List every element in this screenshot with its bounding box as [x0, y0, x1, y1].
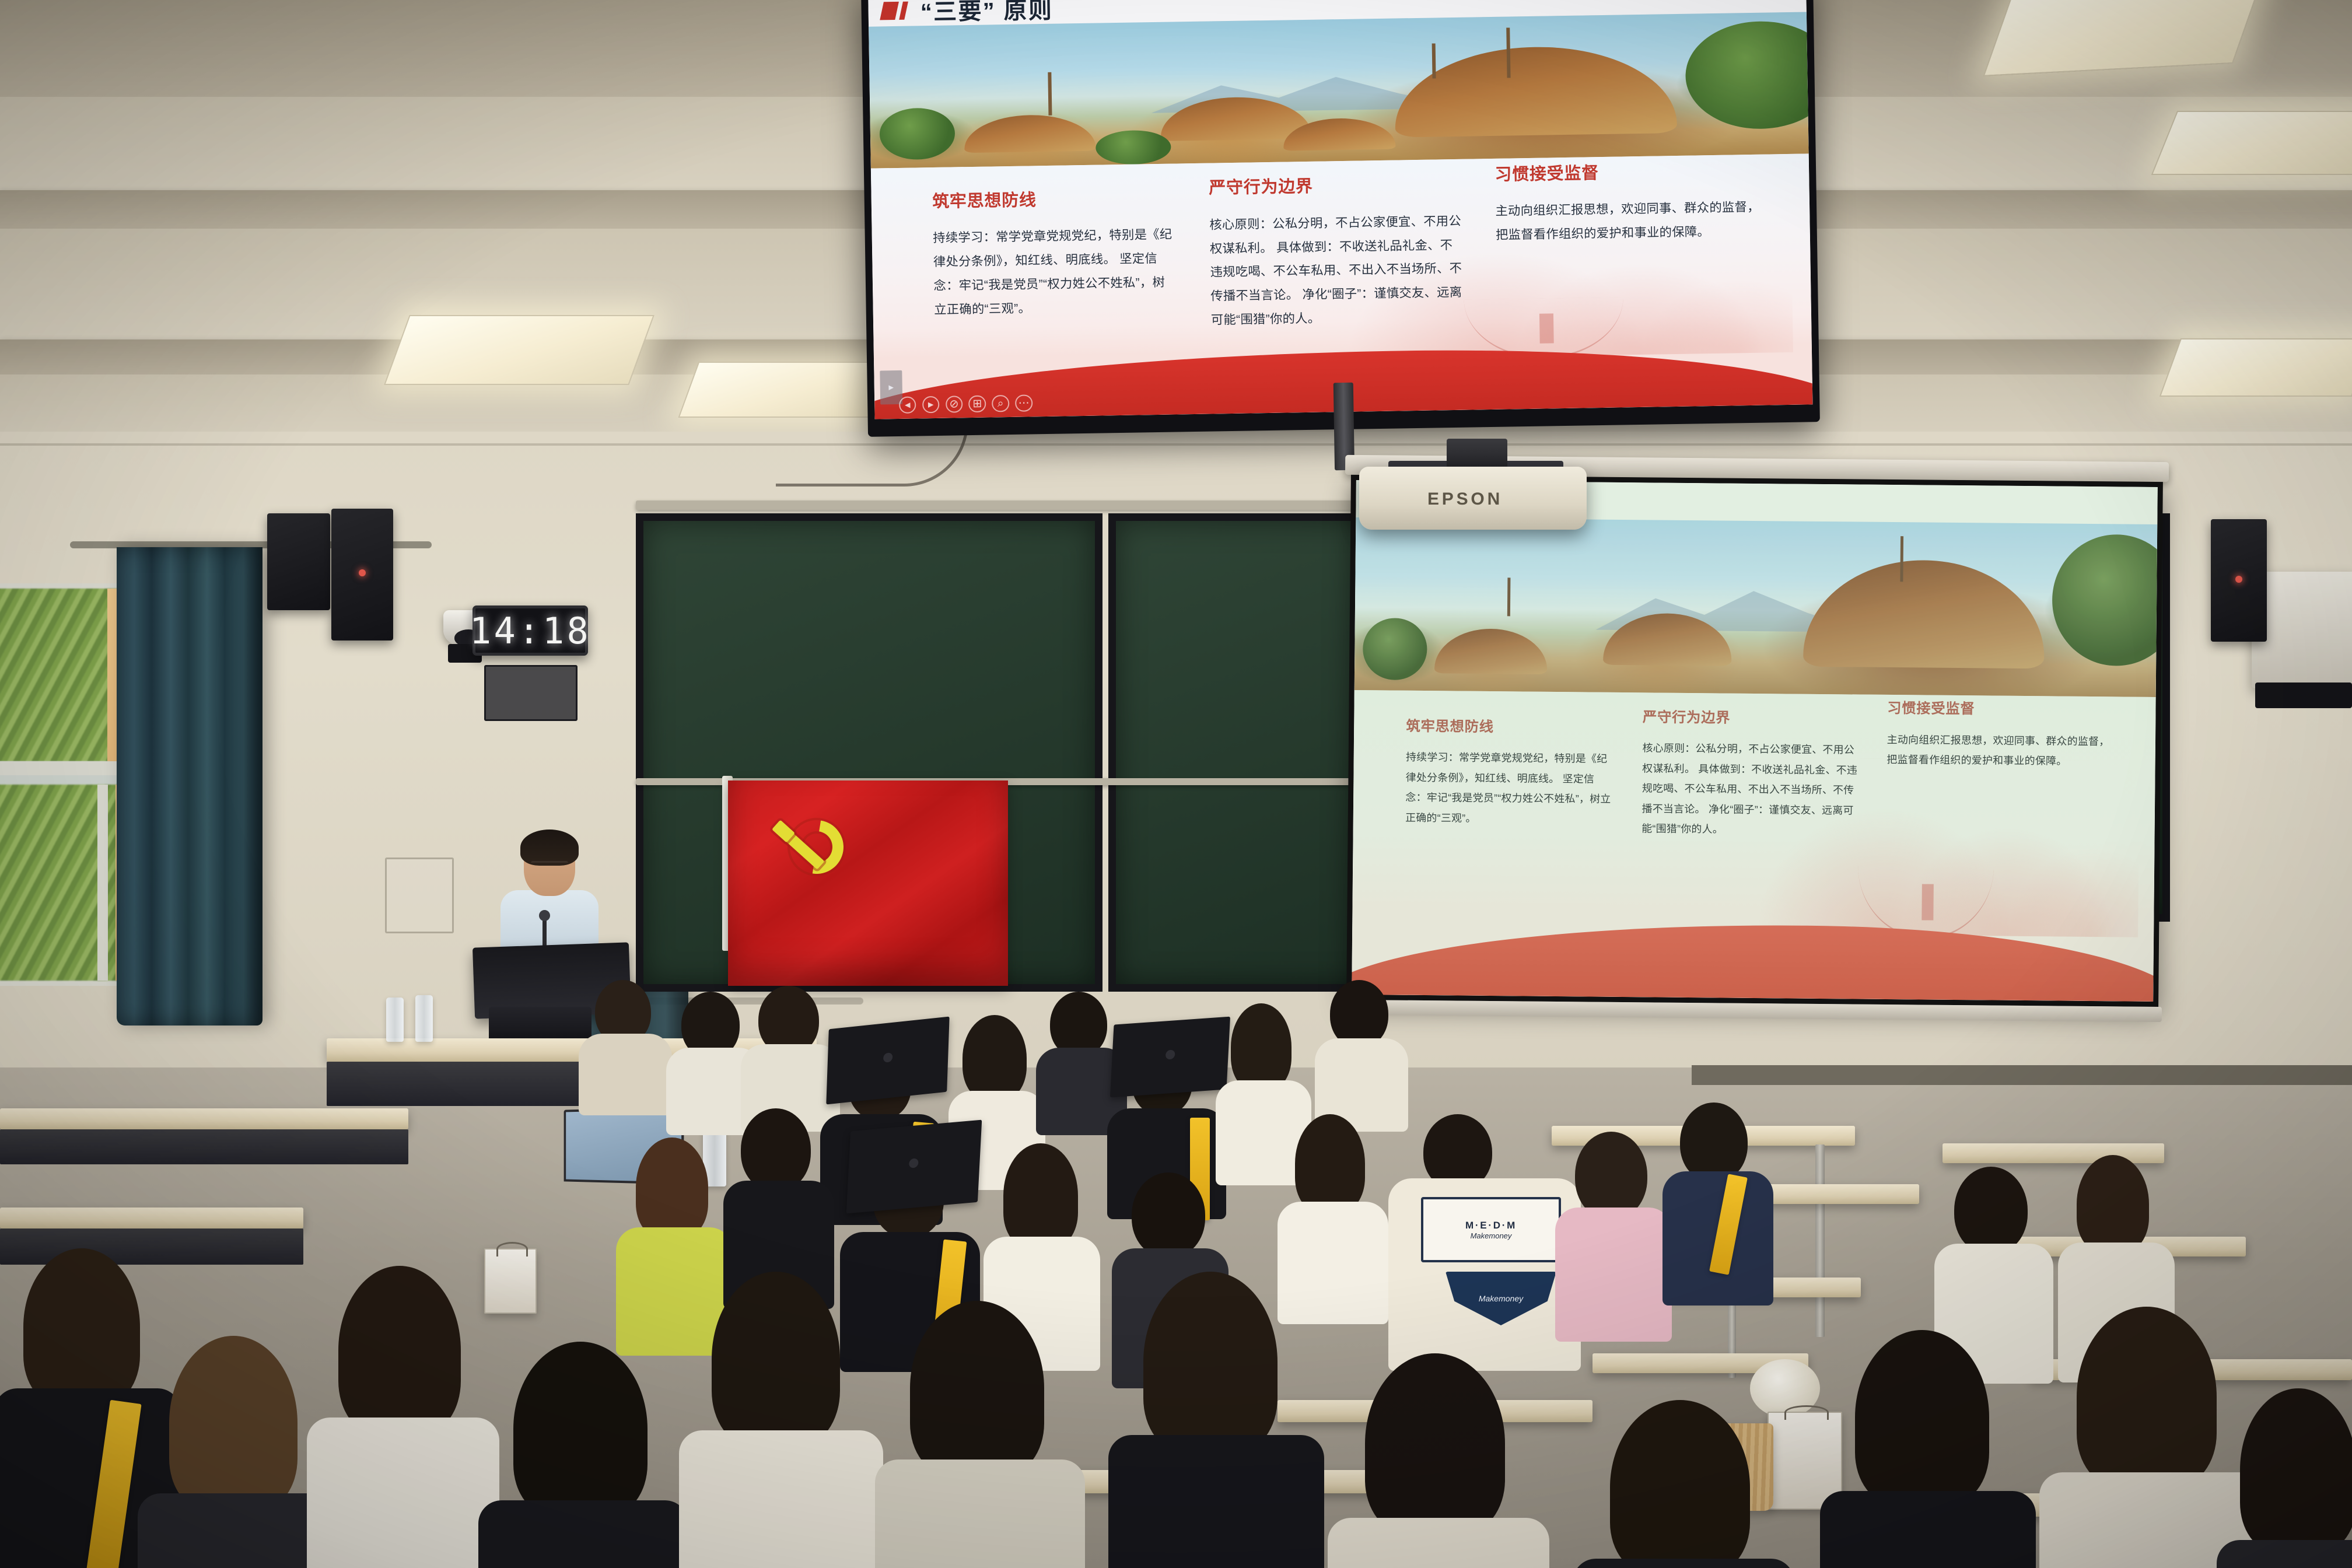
torso [2217, 1540, 2352, 1568]
desk-leg-right-1 [1815, 1144, 1825, 1337]
head-hair-long [169, 1336, 297, 1511]
proj-slide-column-3: 习惯接受监督 主动向组织汇报思想，欢迎同事、群众的监督，把监督看作组织的爱护和事… [1887, 697, 2120, 772]
head-hair-long [963, 1015, 1027, 1101]
digital-wall-clock: 14:18 [473, 605, 588, 656]
proj-column-3-heading: 习惯接受监督 [1887, 697, 2120, 719]
proj-photo-spire-1 [1901, 536, 1904, 582]
pen-off-icon[interactable]: ⊘ [946, 395, 963, 413]
proj-slide-column-2: 严守行为边界 核心原则：公私分明，不占公家便宜、不用公权谋私利。 具体做到：不收… [1641, 706, 1859, 841]
column-3-heading: 习惯接受监督 [1494, 156, 1767, 185]
hammer-sickle-emblem [770, 817, 847, 885]
projector-epson: EPSON [1359, 467, 1587, 530]
clock-time: 14:18 [470, 610, 591, 652]
torso [1573, 1559, 1794, 1568]
curtain-left[interactable] [117, 547, 262, 1025]
head-hair-long [2077, 1307, 2217, 1487]
ceiling-light-6 [2159, 338, 2352, 397]
proj-slide-column-1: 筑牢思想防线 持续学习：常学党章党规党纪，特别是《纪律处分条例》，知红线、明底线… [1405, 715, 1615, 829]
torso [579, 1034, 672, 1115]
presenter-hair [520, 829, 579, 866]
overhead-tv: “三要” 原则 [861, 0, 1820, 437]
head-hair [1680, 1102, 1748, 1182]
photo-tree-mid [1095, 129, 1171, 164]
slide-on-projector: “三要” 原则 [1352, 480, 2158, 1002]
head-hair [910, 1301, 1044, 1476]
torso [875, 1459, 1085, 1568]
title-accent-bar-2 [900, 2, 908, 20]
column-3-body: 主动向组织汇报思想，欢迎同事、群众的监督，把监督看作组织的爱护和事业的保障。 [1495, 195, 1768, 247]
projection-screen-unit: “三要” 原则 [1346, 470, 2163, 1066]
graduation-cap [826, 1017, 949, 1105]
head-hair-long [636, 1137, 708, 1238]
head-hair [1365, 1353, 1505, 1534]
proj-column-2-body: 核心原则：公私分明，不占公家便宜、不用公权谋私利。 具体做到：不收送礼品礼金、不… [1641, 738, 1859, 841]
tv-screen[interactable]: “三要” 原则 [868, 0, 1812, 419]
water-bottle-lectern-2 [415, 995, 433, 1042]
wall-seam-top [0, 443, 2352, 446]
head-hair [513, 1342, 647, 1517]
slide-body: 筑牢思想防线 持续学习：常学党章党规党纪，特别是《纪律处分条例》，知红线、明底线… [871, 154, 1813, 419]
head-hair [741, 1108, 811, 1191]
slide-grid-icon[interactable]: ⊞ [968, 395, 986, 412]
proj-slide-photo [1354, 517, 2158, 696]
torso [478, 1500, 688, 1568]
proj-column-1-body: 持续学习：常学党章党规党纪，特别是《纪律处分条例》，知红线、明底线。 坚定信念：… [1405, 747, 1614, 829]
desk-row-left-2 [0, 1207, 303, 1228]
lecture-hall-photo: 14:18 “三要” 原则 [0, 0, 2352, 1568]
head-hair-long [712, 1272, 840, 1447]
projection-screen-border: “三要” 原则 [1346, 475, 2163, 1007]
photo-roof-3 [964, 114, 1095, 153]
photo-spire-1 [1507, 28, 1511, 78]
ceiling-light-5 [678, 362, 891, 418]
slide-title: “三要” 原则 [920, 0, 1053, 27]
presenter-control-bar[interactable]: ◂ ▸ ⊘ ⊞ ⌕ ⋯ [899, 394, 1032, 414]
head-hair-long [2077, 1155, 2149, 1253]
tshirt-monogram: M·E·D·M [1465, 1220, 1517, 1231]
head-hair [1954, 1167, 2028, 1254]
camera-arm-right [2255, 682, 2352, 708]
slide-on-tv: “三要” 原则 [868, 0, 1812, 419]
head-hair-long [1143, 1272, 1277, 1452]
slide-column-1: 筑牢思想防线 持续学习：常学党章党规党纪，特别是《纪律处分条例》，知红线、明底线… [932, 184, 1178, 322]
cap-button [883, 1052, 892, 1063]
glasses-icon [531, 861, 568, 871]
torso [679, 1430, 883, 1568]
photo-spire-3 [1048, 72, 1052, 115]
graduation-cap [1110, 1017, 1230, 1098]
head-hair-long [23, 1248, 140, 1406]
torso [307, 1417, 499, 1568]
photo-tree-right [1685, 20, 1812, 130]
chalkboard-rail [636, 501, 1400, 510]
torso [1108, 1435, 1324, 1568]
decorative-watchtower [1539, 313, 1554, 344]
title-accent-bar [880, 2, 898, 20]
slide-column-3: 习惯接受监督 主动向组织汇报思想，欢迎同事、群众的监督，把监督看作组织的爱护和事… [1494, 156, 1768, 247]
projection-screen-surface[interactable]: “三要” 原则 [1352, 480, 2158, 1002]
gift-bag-2 [484, 1248, 537, 1314]
window-mullion-v [97, 785, 108, 981]
projector-brand-label: EPSON [1427, 489, 1503, 509]
head-hair-long [1295, 1114, 1365, 1213]
head-hair [2240, 1388, 2352, 1552]
zoom-icon[interactable]: ⌕ [992, 395, 1009, 412]
torso [1820, 1491, 2036, 1568]
sickle-icon [779, 810, 855, 885]
proj-column-3-body: 主动向组织汇报思想，欢迎同事、群众的监督，把监督看作组织的爱护和事业的保障。 [1887, 730, 2119, 772]
cpc-party-flag [728, 780, 1008, 986]
torso [1555, 1207, 1672, 1342]
proj-photo-tree-right [2052, 534, 2158, 666]
tv-bezel: “三要” 原则 [861, 0, 1820, 437]
column-2-heading: 严守行为边界 [1209, 170, 1462, 199]
column-1-heading: 筑牢思想防线 [932, 184, 1177, 212]
column-1-body: 持续学习：常学党章党规党纪，特别是《纪律处分条例》，知红线、明底线。 坚定信念：… [933, 223, 1178, 322]
head-hair [1575, 1132, 1647, 1219]
column-2-body: 核心原则：公私分明，不占公家便宜、不用公权谋私利。 具体做到：不收送礼品礼金、不… [1209, 209, 1464, 332]
desk-row-left-1 [0, 1108, 408, 1129]
slide-photo-forbidden-city [869, 12, 1809, 168]
ceiling-light-3 [2151, 111, 2352, 175]
head-hair-long [1003, 1143, 1078, 1248]
desk-front-left-2 [0, 1228, 303, 1265]
photo-main-roof [1394, 45, 1677, 137]
tshirt-graphic-top: M·E·D·M Makemoney [1421, 1197, 1561, 1262]
wall-plate-left [385, 857, 454, 933]
cap-button [1165, 1049, 1175, 1059]
wall-device-box [484, 665, 577, 721]
water-bottle-lectern-1 [386, 998, 404, 1042]
tshirt-script: Makemoney [1471, 1231, 1512, 1240]
wall-speaker-right [2211, 519, 2267, 642]
graduation-cap [846, 1120, 982, 1214]
photo-tree-left [879, 107, 955, 160]
proj-photo-roof-3 [1434, 629, 1547, 674]
head-hair [1330, 980, 1388, 1048]
proj-photo-spire-2 [1507, 577, 1511, 616]
head-hair-long [1231, 1003, 1291, 1091]
head-hair [1132, 1172, 1205, 1258]
proj-column-1-heading: 筑牢思想防线 [1406, 715, 1615, 737]
photo-spire-2 [1431, 43, 1436, 78]
baseboard-right [1692, 1065, 2352, 1085]
head-hair [1610, 1400, 1750, 1568]
desk-row-far-right-1 [1943, 1143, 2164, 1163]
more-options-icon[interactable]: ⋯ [1015, 394, 1032, 412]
proj-column-2-heading: 严守行为边界 [1643, 706, 1859, 728]
wall-speaker-left-b [331, 509, 393, 640]
cap-button [909, 1158, 919, 1168]
slide-column-2: 严守行为边界 核心原则：公私分明，不占公家便宜、不用公权谋私利。 具体做到：不收… [1209, 170, 1464, 332]
proj-slide-body: 筑牢思想防线 持续学习：常学党章党规党纪，特别是《纪律处分条例》，知红线、明底线… [1352, 690, 2156, 1002]
torso [138, 1493, 336, 1568]
head-hair-long [338, 1266, 461, 1435]
torso [1328, 1518, 1549, 1568]
ceiling-light-4 [384, 315, 654, 385]
next-slide-icon[interactable]: ▸ [922, 396, 940, 414]
torso [1277, 1202, 1388, 1324]
head-hair [1855, 1330, 1989, 1505]
microphone-icon [539, 910, 550, 921]
previous-slide-icon[interactable]: ◂ [899, 396, 916, 414]
desk-front-left-1 [0, 1129, 408, 1164]
proj-photo-main-roof [1804, 559, 2045, 668]
proj-photo-tree-left [1363, 618, 1427, 680]
proj-decorative-watchtower [1922, 884, 1934, 921]
wall-speaker-left-a [267, 513, 330, 610]
